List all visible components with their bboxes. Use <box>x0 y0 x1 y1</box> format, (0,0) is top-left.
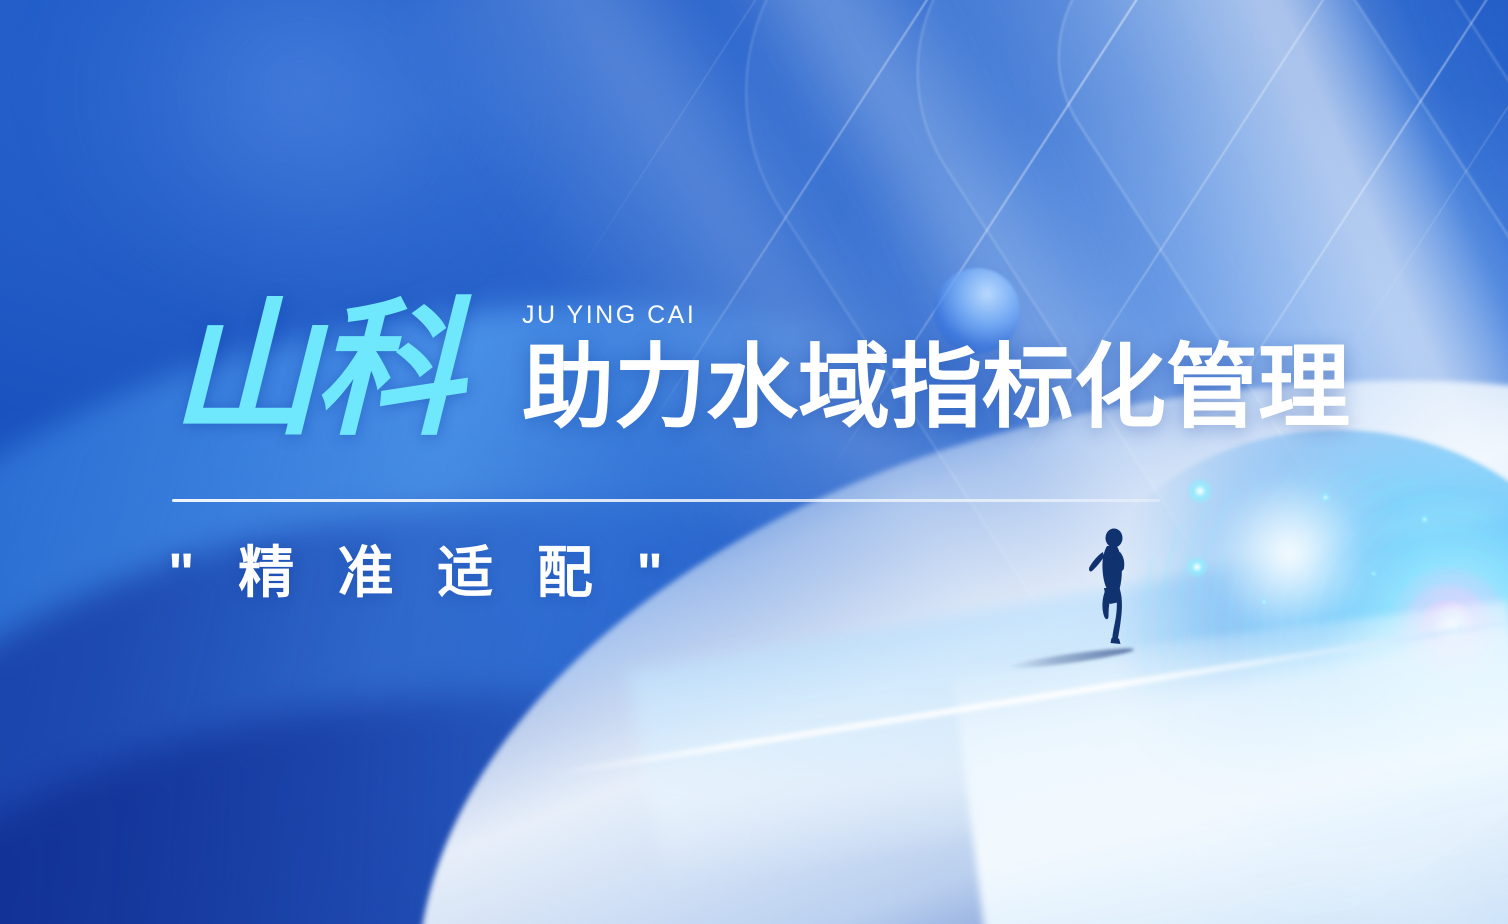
promotional-banner: 山科 JU YING CAI 助力水域指标化管理 " 精 准 适 配 " <box>0 0 1508 924</box>
horizontal-divider <box>172 499 1160 502</box>
title-block: JU YING CAI 助力水域指标化管理 <box>522 303 1350 436</box>
brand-lockup: 山科 <box>170 300 458 442</box>
headline-text: 助力水域指标化管理 <box>522 342 1350 436</box>
banner-content: 山科 JU YING CAI 助力水域指标化管理 " 精 准 适 配 " <box>0 0 1508 924</box>
subtitle-text: " 精 准 适 配 " <box>168 542 677 604</box>
brand-logo-text: 山科 <box>170 300 458 442</box>
brand-pinyin-text: JU YING CAI <box>522 303 1350 328</box>
